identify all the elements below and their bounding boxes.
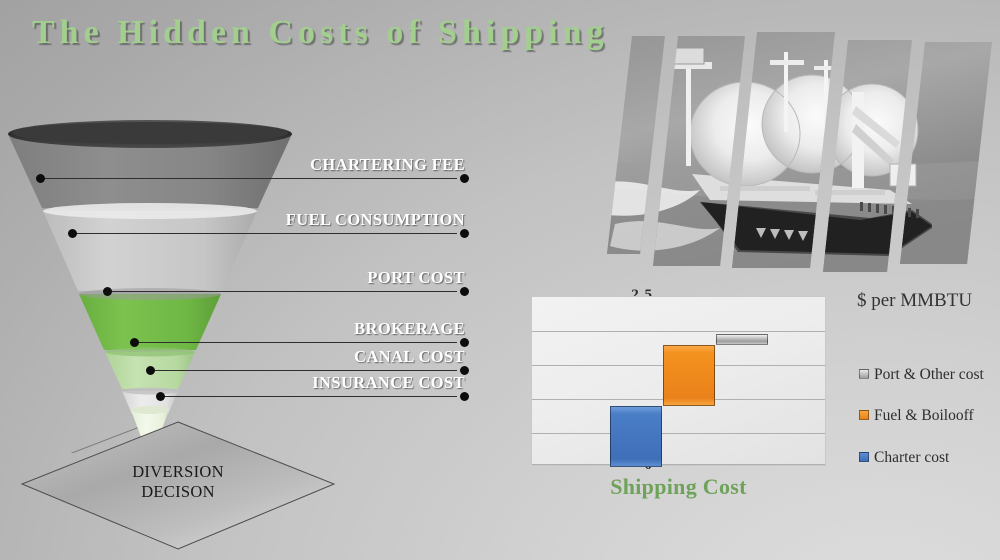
legend-item-fuel-boilooff[interactable]: Fuel & Boilooff (859, 407, 974, 425)
slide-canvas: The Hidden Costs of Shipping (0, 0, 1000, 560)
chart-x-axis-title: Shipping Cost (531, 474, 826, 500)
chart-units-label: $ per MMBTU (857, 290, 972, 312)
gridline (532, 464, 825, 465)
legend-item-port-other-cost[interactable]: Port & Other cost (859, 366, 984, 384)
leader-dot-left (68, 229, 77, 238)
leader-line (107, 291, 457, 292)
leader-dot-left (36, 174, 45, 183)
bar-face (663, 345, 715, 406)
callout-label: CHARTERING FEE (310, 155, 465, 175)
legend-swatch-icon (859, 410, 869, 420)
page-title: The Hidden Costs of Shipping (32, 14, 609, 52)
legend-label: Fuel & Boilooff (874, 407, 974, 424)
gridline (532, 331, 825, 332)
shipping-cost-chart: 2.5 2 1.5 1 0.5 0 (487, 286, 1000, 536)
legend-swatch-icon (859, 452, 869, 462)
callout-label: FUEL CONSUMPTION (286, 210, 465, 230)
gridline (532, 433, 825, 434)
legend-item-charter-cost[interactable]: Charter cost (859, 449, 949, 467)
legend-swatch-icon (859, 369, 869, 379)
decision-line-2: DECISON (18, 482, 338, 502)
leader-dot-right (460, 174, 469, 183)
leader-dot-right (460, 338, 469, 347)
leader-dot-right (460, 229, 469, 238)
lng-tanker-photo (560, 14, 1000, 276)
leader-line (150, 370, 457, 371)
decision-line-1: DIVERSION (18, 462, 338, 482)
callout-label: CANAL COST (354, 347, 465, 367)
leader-line (160, 396, 457, 397)
decision-text: DIVERSION DECISON (18, 462, 338, 502)
leader-dot-right (460, 392, 469, 401)
legend-label: Charter cost (874, 449, 949, 466)
legend-label: Port & Other cost (874, 366, 984, 383)
diversion-decision-diamond: DIVERSION DECISON (18, 418, 338, 553)
leader-dot-right (460, 287, 469, 296)
leader-dot-left (146, 366, 155, 375)
bar-fuel-boilooff[interactable] (663, 345, 715, 406)
leader-line (40, 178, 457, 179)
callout-label: PORT COST (367, 268, 465, 288)
plot-area (531, 296, 826, 466)
leader-line (72, 233, 457, 234)
callout-label: INSURANCE COST (312, 373, 465, 393)
hidden-costs-funnel (0, 118, 310, 448)
bar-port-other-cost[interactable] (716, 334, 768, 345)
leader-line (134, 342, 457, 343)
leader-dot-left (156, 392, 165, 401)
bar-face (716, 334, 768, 345)
bar-face (610, 406, 662, 467)
leader-dot-left (130, 338, 139, 347)
callout-label: BROKERAGE (354, 319, 465, 339)
bar-charter-cost[interactable] (610, 406, 662, 467)
leader-dot-left (103, 287, 112, 296)
